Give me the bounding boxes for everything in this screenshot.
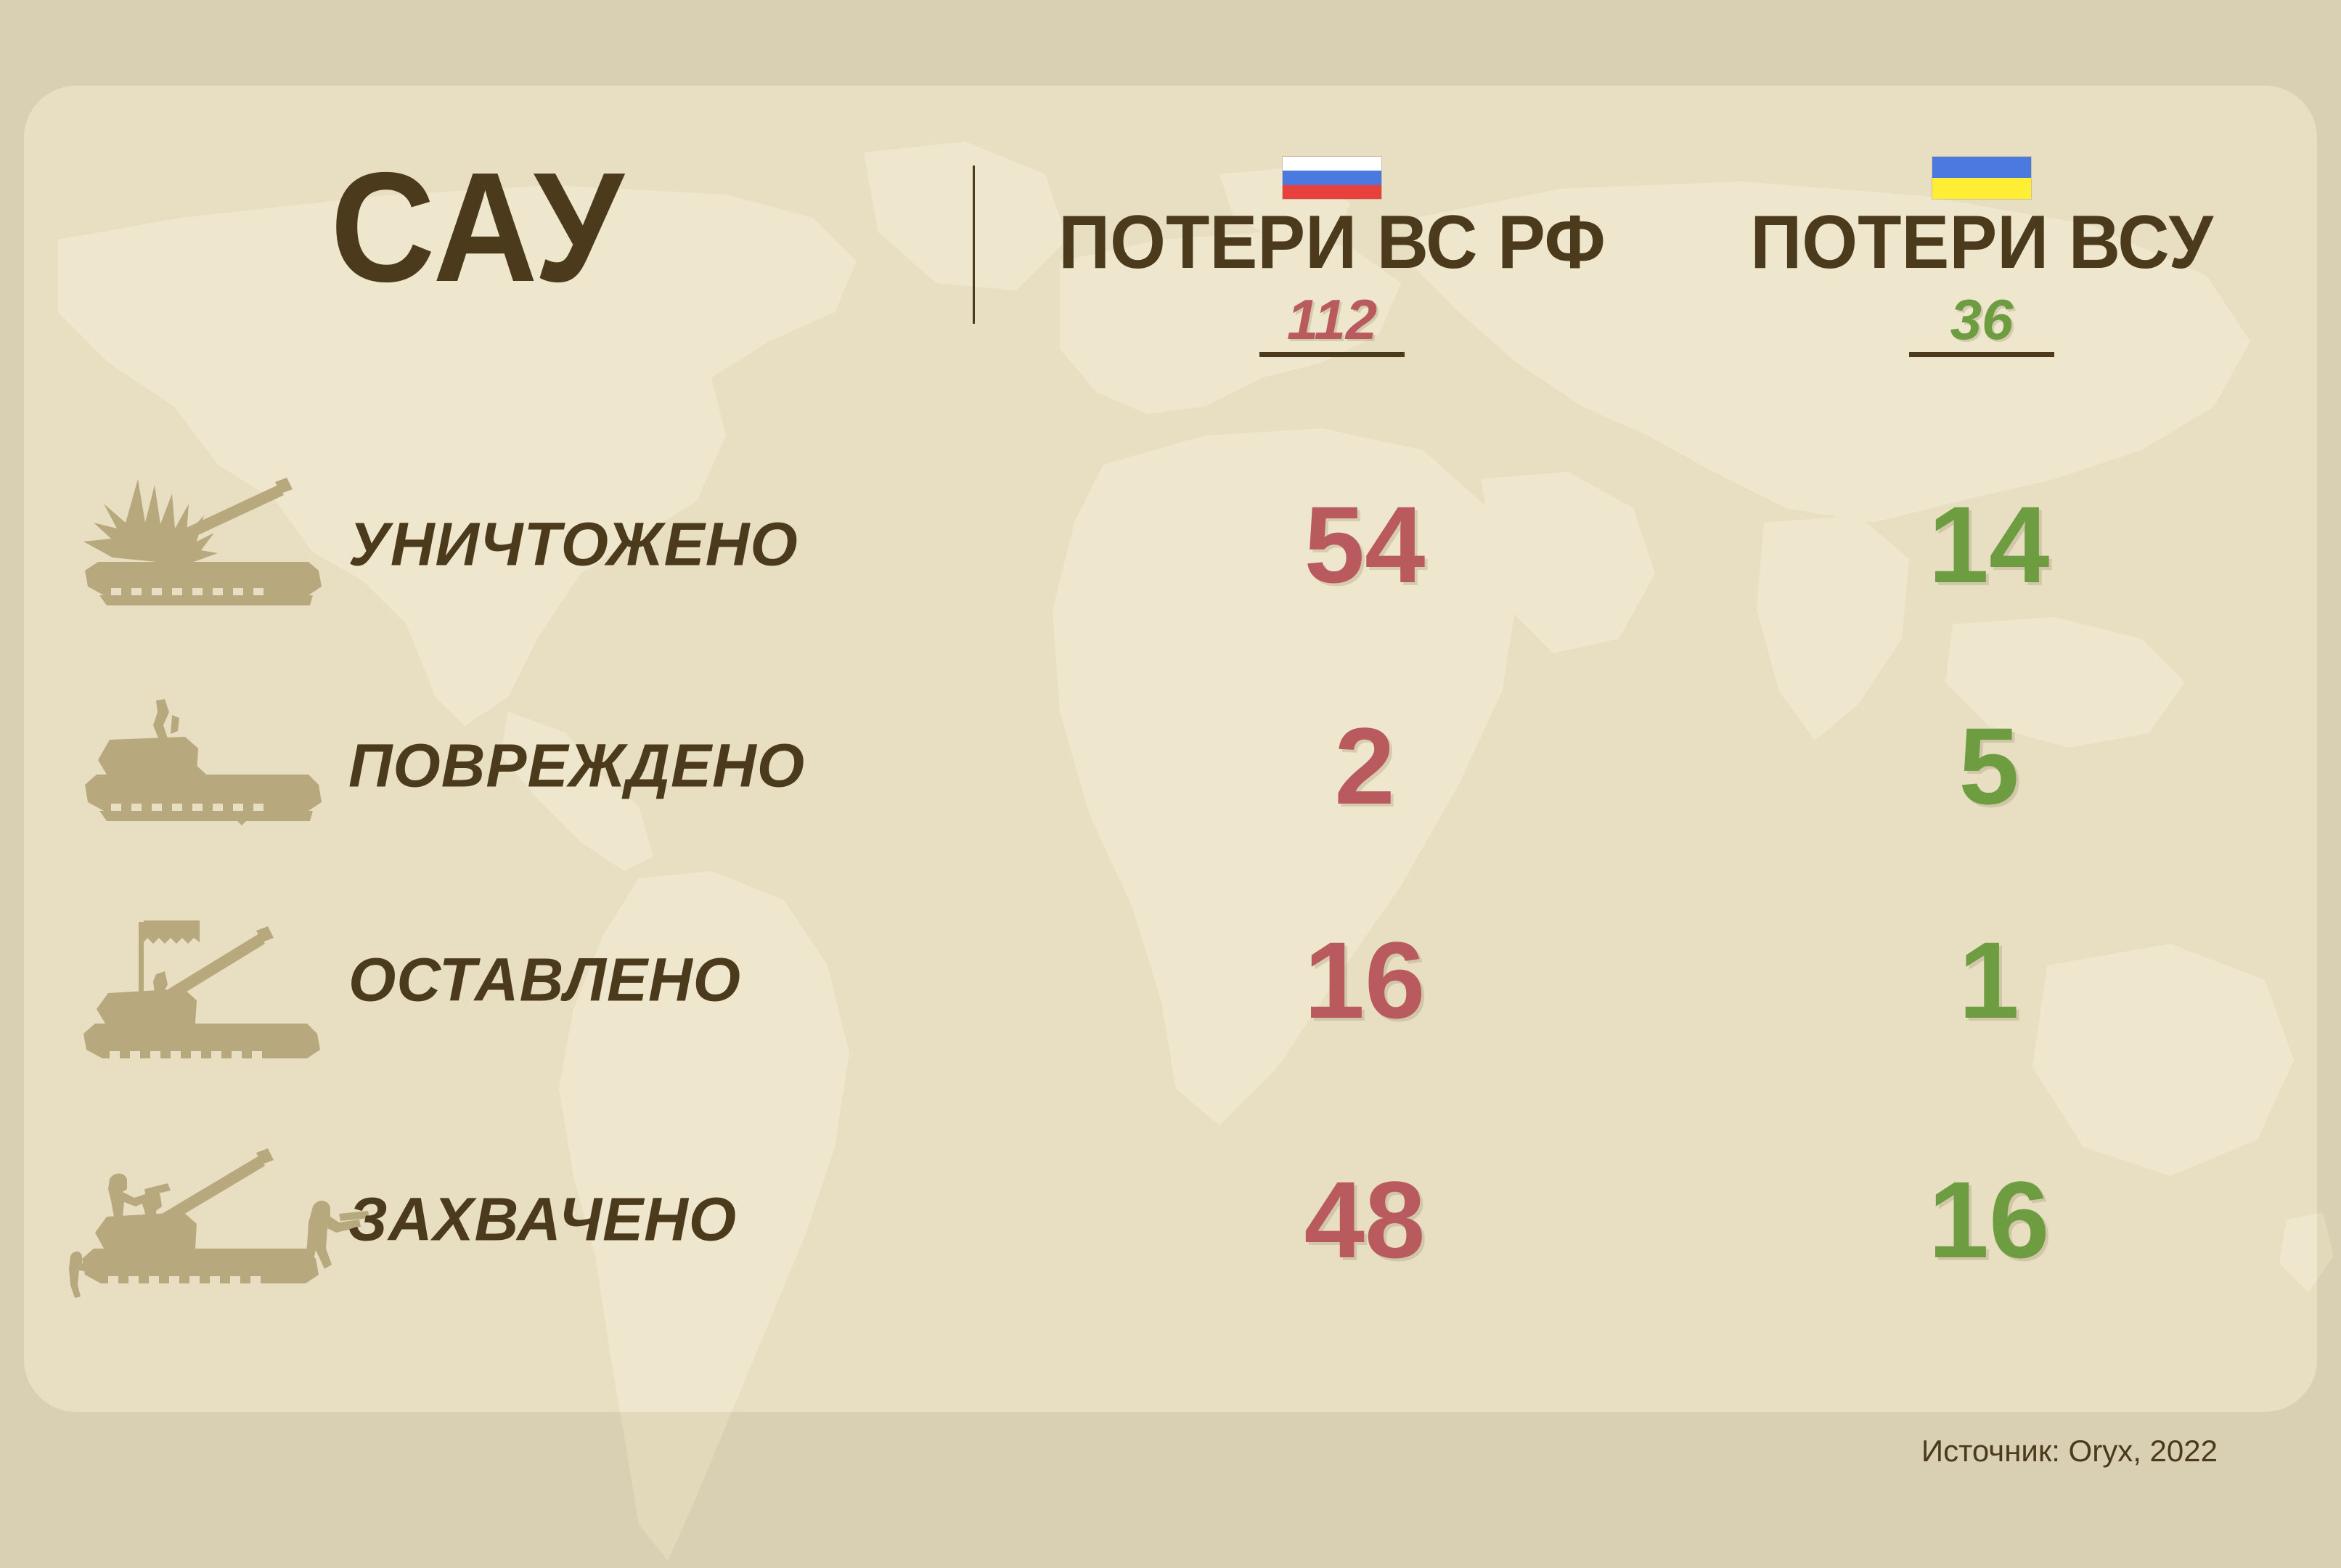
total-underline-ukraine [1909, 352, 2054, 357]
row-label: УНИЧТОЖЕНО [348, 510, 798, 580]
table-row: ПОВРЕЖДЕНО 2 5 [0, 693, 2341, 838]
total-underline-russia [1259, 352, 1405, 357]
spg-captured-icon [69, 1147, 374, 1292]
spg-damaged-icon [69, 693, 345, 838]
row-label: ЗАХВАЧЕНО [348, 1185, 737, 1255]
source-note: Источник: Oryx, 2022 [1921, 1434, 2218, 1469]
page-title: САУ [330, 149, 625, 305]
column-header-russia: ПОТЕРИ ВС РФ 112 [994, 157, 1670, 357]
spg-destroyed-icon [69, 472, 345, 617]
russia-flag-icon [1283, 157, 1381, 199]
row-value-russia: 48 [1132, 1165, 1597, 1274]
row-value-ukraine: 1 [1800, 926, 2178, 1034]
row-label: ОСТАВЛЕНО [348, 945, 741, 1016]
content-layer: САУ ПОТЕРИ ВС РФ 112 ПОТЕРИ ВСУ 36 [0, 0, 2341, 1568]
column-header-ukraine: ПОТЕРИ ВСУ 36 [1691, 157, 2272, 357]
table-row: ЗАХВАЧЕНО 48 16 [0, 1147, 2341, 1292]
column-title-russia: ПОТЕРИ ВС РФ [1011, 203, 1653, 282]
row-value-ukraine: 16 [1800, 1165, 2178, 1274]
table-row: ОСТАВЛЕНО 16 1 [0, 907, 2341, 1053]
ukraine-flag-icon [1932, 157, 2031, 199]
infographic-root: САУ ПОТЕРИ ВС РФ 112 ПОТЕРИ ВСУ 36 [0, 0, 2341, 1568]
column-title-ukraine: ПОТЕРИ ВСУ [1706, 203, 2258, 282]
column-total-ukraine: 36 [1691, 291, 2272, 348]
row-value-ukraine: 5 [1800, 711, 2178, 820]
row-value-russia: 2 [1132, 711, 1597, 820]
row-value-russia: 54 [1132, 490, 1597, 599]
column-divider [973, 166, 975, 324]
column-total-russia: 112 [994, 291, 1670, 348]
spg-abandoned-icon [69, 907, 345, 1053]
table-row: УНИЧТОЖЕНО 54 14 [0, 472, 2341, 617]
row-value-ukraine: 14 [1800, 490, 2178, 599]
row-value-russia: 16 [1132, 926, 1597, 1034]
row-label: ПОВРЕЖДЕНО [348, 731, 805, 801]
